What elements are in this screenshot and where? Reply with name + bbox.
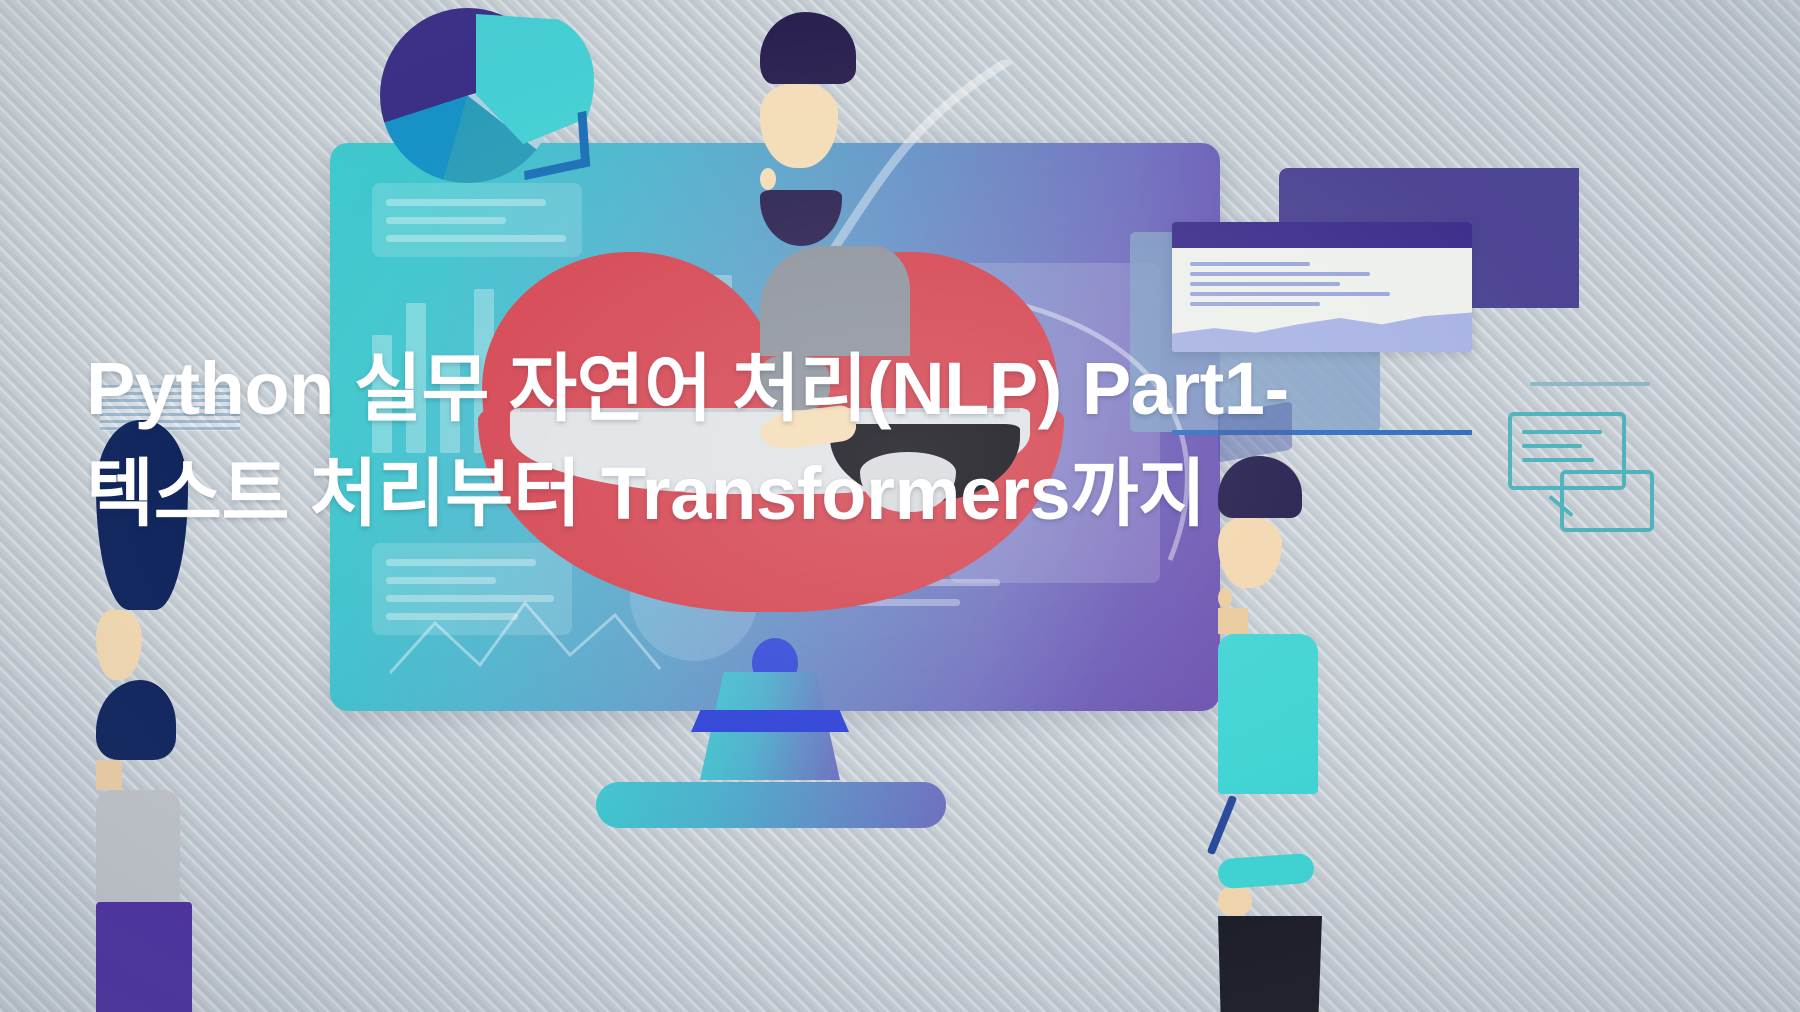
title-line-2: 텍스트 처리부터 Transformers까지: [86, 441, 1506, 546]
banner-title: Python 실무 자연어 처리(NLP) Part1- 텍스트 처리부터 Tr…: [86, 336, 1506, 546]
title-line-1: Python 실무 자연어 처리(NLP) Part1-: [86, 336, 1506, 441]
banner-image: Python 실무 자연어 처리(NLP) Part1- 텍스트 처리부터 Tr…: [0, 0, 1800, 1012]
